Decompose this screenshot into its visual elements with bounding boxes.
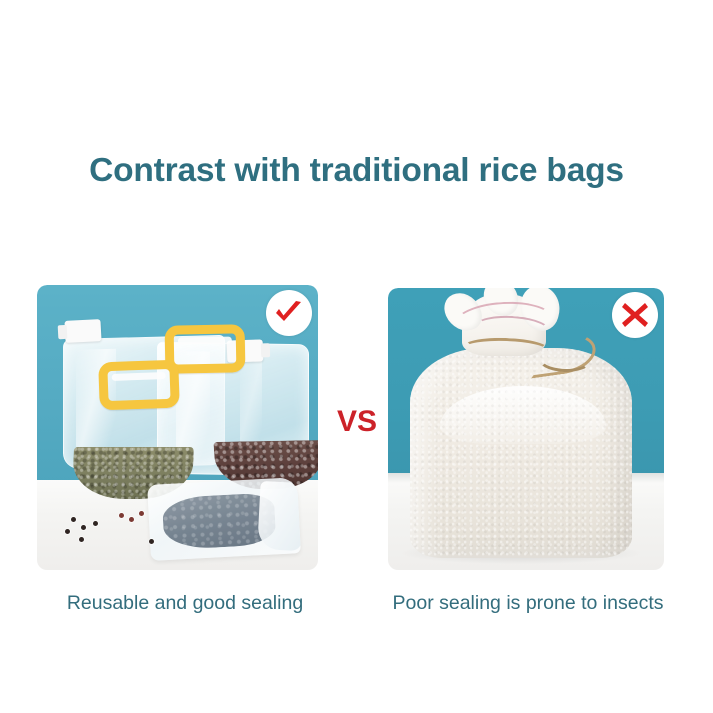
caption-right: Poor sealing is prone to insects (368, 592, 688, 615)
loose-bean (71, 517, 76, 522)
handle-grip-ridge (178, 337, 232, 345)
loose-bean (65, 529, 70, 534)
rice-sack-body (410, 348, 632, 558)
front-pouch-open (147, 477, 301, 561)
cross-icon (621, 301, 649, 329)
check-icon (274, 300, 304, 326)
pouch-flap (257, 481, 301, 551)
loose-bean (79, 537, 84, 542)
caption-left: Reusable and good sealing (45, 592, 325, 615)
comparison-panel-left (37, 285, 318, 570)
loose-bean (139, 511, 144, 516)
comparison-panel-right (388, 288, 664, 570)
loose-bean (93, 521, 98, 526)
spout-cap-left (64, 319, 101, 343)
loose-bean (81, 525, 86, 530)
loose-bean (119, 513, 124, 518)
approved-badge (266, 290, 312, 336)
handle-grip-ridge (112, 372, 166, 381)
loose-bean (149, 539, 154, 544)
page-title: Contrast with traditional rice bags (0, 152, 713, 190)
rejected-badge (612, 292, 658, 338)
sack-shoulder (440, 386, 606, 444)
carry-handle-lower (98, 360, 180, 411)
product-comparison-page: Contrast with traditional rice bags (0, 0, 713, 713)
versus-label: VS (326, 405, 388, 439)
loose-bean (129, 517, 134, 522)
